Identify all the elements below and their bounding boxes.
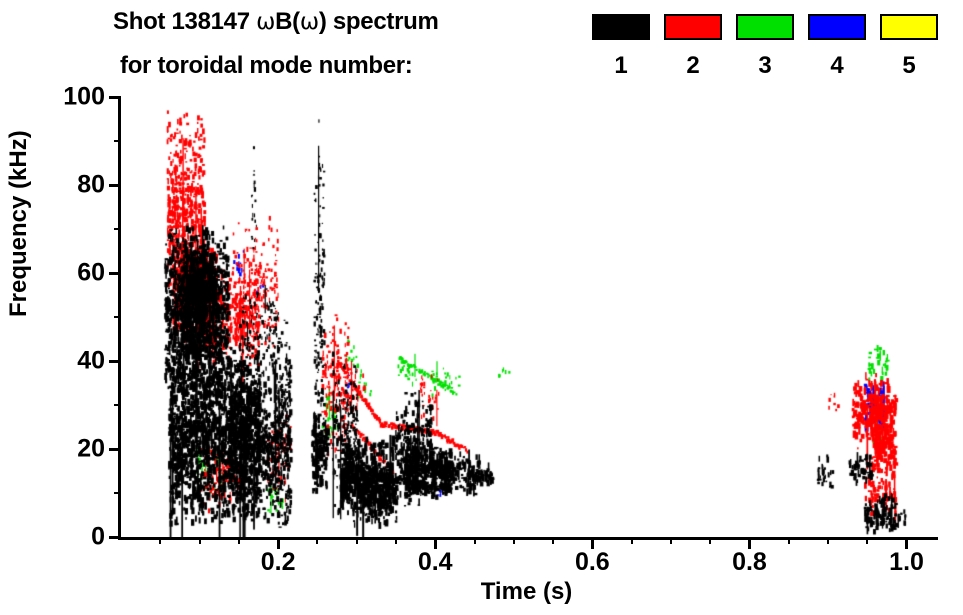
y-tick-major xyxy=(109,536,121,539)
title-prefix: Shot 138147 xyxy=(113,8,256,35)
x-tick-label-0.4: 0.4 xyxy=(418,548,453,577)
x-tick-minor xyxy=(709,537,711,544)
y-tick-minor xyxy=(114,492,121,494)
y-tick-major xyxy=(109,360,121,363)
legend-label-n2: 2 xyxy=(664,52,722,80)
title-suffix: ) spectrum xyxy=(319,8,439,35)
x-tick-minor xyxy=(199,537,201,544)
x-tick-minor xyxy=(670,537,672,544)
x-tick-label-1.0: 1.0 xyxy=(889,548,924,577)
x-tick-label-0.2: 0.2 xyxy=(261,548,296,577)
x-tick-minor xyxy=(474,537,476,544)
y-axis-label: Frequency (kHz) xyxy=(5,130,33,317)
x-tick-minor xyxy=(827,537,829,544)
x-tick-minor xyxy=(631,537,633,544)
spectrogram-canvas xyxy=(121,97,938,537)
omega-symbol: ω xyxy=(256,9,275,35)
x-tick-minor xyxy=(788,537,790,544)
y-tick-label-20: 20 xyxy=(77,435,105,464)
x-tick-minor xyxy=(356,537,358,544)
x-tick-minor xyxy=(159,537,161,544)
x-tick-label-0.6: 0.6 xyxy=(575,548,610,577)
legend-swatch-n2 xyxy=(664,14,722,40)
x-tick-minor xyxy=(395,537,397,544)
legend-label-n4: 4 xyxy=(808,52,866,80)
y-tick-minor xyxy=(114,228,121,230)
x-tick-minor xyxy=(866,537,868,544)
y-tick-major xyxy=(109,272,121,275)
x-tick-minor xyxy=(238,537,240,544)
x-tick-minor xyxy=(552,537,554,544)
y-tick-minor xyxy=(114,316,121,318)
legend-swatch-n3 xyxy=(736,14,794,40)
legend-label-n1: 1 xyxy=(592,52,650,80)
y-tick-major xyxy=(109,184,121,187)
y-tick-label-40: 40 xyxy=(77,347,105,376)
figure-root: Shot 138147 ωB(ω) spectrum for toroidal … xyxy=(0,0,963,615)
y-tick-major xyxy=(109,96,121,99)
omega-symbol-2: ω xyxy=(300,9,319,35)
y-tick-minor xyxy=(114,404,121,406)
y-tick-label-80: 80 xyxy=(77,171,105,200)
y-tick-label-60: 60 xyxy=(77,259,105,288)
legend-swatch-n5 xyxy=(880,14,938,40)
x-tick-minor xyxy=(316,537,318,544)
x-axis-label: Time (s) xyxy=(118,578,935,606)
y-tick-major xyxy=(109,448,121,451)
title-quantity: B( xyxy=(275,8,300,35)
y-tick-label-0: 0 xyxy=(91,523,105,552)
plot-area: 0204060801000.20.40.60.81.0 xyxy=(118,97,938,540)
figure-title-line-1: Shot 138147 ωB(ω) spectrum xyxy=(113,8,439,36)
legend-label-n5: 5 xyxy=(880,52,938,80)
legend-swatch-n4 xyxy=(808,14,866,40)
y-tick-minor xyxy=(114,140,121,142)
legend-swatch-n1 xyxy=(592,14,650,40)
figure-title-line-2: for toroidal mode number: xyxy=(120,52,413,80)
legend-label-n3: 3 xyxy=(736,52,794,80)
x-tick-minor xyxy=(513,537,515,544)
y-tick-label-100: 100 xyxy=(63,83,105,112)
x-tick-label-0.8: 0.8 xyxy=(732,548,767,577)
